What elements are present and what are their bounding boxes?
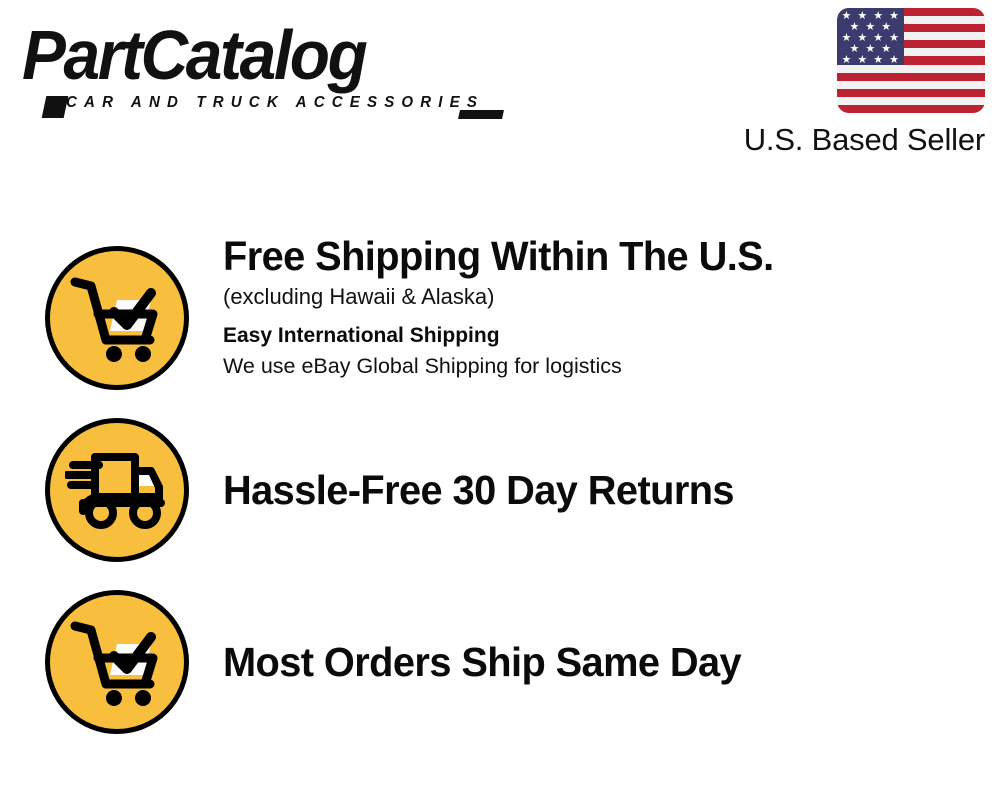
- feature-text-block: Free Shipping Within The U.S. (excluding…: [223, 232, 983, 380]
- feature-title: Most Orders Ship Same Day: [223, 638, 960, 686]
- shopping-cart-check-icon: [45, 590, 189, 734]
- feature-list: Free Shipping Within The U.S. (excluding…: [0, 232, 1000, 748]
- brand-tagline: CAR AND TRUCK ACCESSORIES: [66, 94, 484, 112]
- feature-sub-title: Easy International Shipping: [223, 322, 983, 349]
- shopping-cart-check-icon: [45, 246, 189, 390]
- feature-row: Most Orders Ship Same Day: [0, 576, 1000, 748]
- brand-wordmark: PartCatalog: [22, 18, 365, 92]
- feature-note: (excluding Hawaii & Alaska): [223, 283, 983, 311]
- feature-title: Free Shipping Within The U.S.: [223, 232, 960, 280]
- shipping-info-banner: PartCatalog CAR AND TRUCK ACCESSORIES: [0, 0, 1000, 800]
- feature-text-block: Hassle-Free 30 Day Returns: [223, 466, 983, 514]
- flag-star-row: ★★★★: [837, 55, 904, 66]
- feature-sub-note: We use eBay Global Shipping for logistic…: [223, 352, 983, 380]
- flag-canton: ★★★★ ★★★ ★★★★ ★★★ ★★★★: [837, 8, 904, 65]
- brand-logo: PartCatalog CAR AND TRUCK ACCESSORIES: [22, 18, 492, 113]
- logo-accent-left: [42, 96, 69, 118]
- feature-row: Hassle-Free 30 Day Returns: [0, 404, 1000, 576]
- feature-text-block: Most Orders Ship Same Day: [223, 638, 983, 686]
- feature-title: Hassle-Free 30 Day Returns: [223, 466, 960, 514]
- us-flag-icon: ★★★★ ★★★ ★★★★ ★★★ ★★★★: [837, 8, 985, 113]
- us-based-seller-badge: ★★★★ ★★★ ★★★★ ★★★ ★★★★ U.S. Based Seller: [715, 8, 985, 158]
- feature-row: Free Shipping Within The U.S. (excluding…: [0, 232, 1000, 404]
- delivery-truck-icon: [45, 418, 189, 562]
- us-based-seller-label: U.S. Based Seller: [715, 122, 985, 158]
